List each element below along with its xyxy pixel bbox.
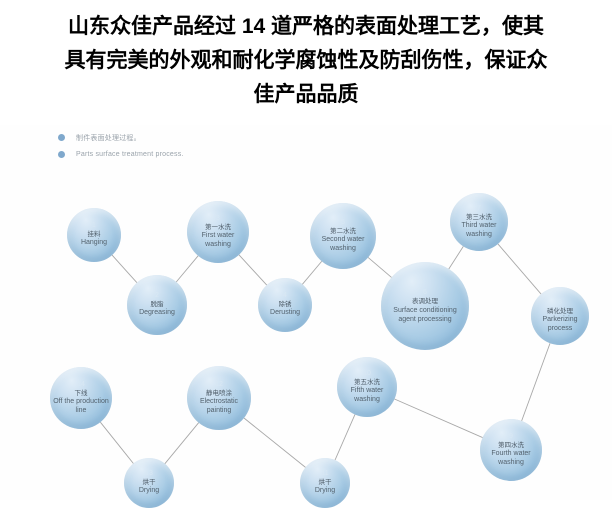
connector-line: [100, 422, 133, 463]
process-node-label-cn: 第一水洗: [205, 224, 231, 232]
process-node-label-cn: 磷化处理: [547, 308, 573, 316]
connector-line: [302, 261, 321, 284]
process-node-number: 9: [509, 433, 513, 441]
process-node-10[interactable]: 10第五水洗Fifth water washing: [337, 357, 397, 417]
connector-line: [394, 399, 482, 438]
connector-line: [498, 244, 541, 294]
connector-line: [368, 257, 391, 277]
process-node-12[interactable]: 12静电喷涂Electrostatic painting: [187, 366, 251, 430]
process-node-label-cn: 第三水洗: [466, 214, 492, 222]
legend: 制件表面处理过程。 Parts surface treatment proces…: [58, 129, 184, 163]
process-node-label-en: Second water washing: [310, 236, 376, 253]
process-node-label-cn: 烘干: [143, 479, 156, 487]
connector-line: [112, 255, 137, 283]
process-node-label-cn: 下线: [75, 390, 88, 398]
process-node-number: 13: [145, 470, 153, 478]
process-node-1[interactable]: 1挂料Hanging: [67, 208, 121, 262]
process-node-number: 6: [423, 289, 427, 297]
connector-line: [239, 255, 267, 285]
process-node-number: 7: [477, 205, 481, 213]
process-node-label-en: Fifth water washing: [337, 387, 397, 404]
process-node-8[interactable]: 8磷化处理Parkerizing process: [531, 287, 589, 345]
connector-line: [176, 256, 198, 282]
process-node-label-en: Parkerizing process: [531, 316, 589, 333]
process-node-label-en: Hanging: [78, 239, 110, 248]
process-node-label-en: Third water washing: [450, 222, 508, 239]
connector-line: [522, 343, 550, 421]
process-node-label-en: Degreasing: [136, 309, 178, 318]
process-node-label-cn: 挂料: [88, 231, 101, 239]
legend-item-en: Parts surface treatment process.: [58, 146, 184, 163]
process-node-label-cn: 第二水洗: [330, 228, 356, 236]
process-node-label-cn: 脱脂: [151, 301, 164, 309]
process-node-number: 2: [155, 292, 159, 300]
process-node-label-en: Derusting: [267, 309, 303, 318]
page-title-line-3: 佳产品品质: [21, 78, 591, 112]
process-node-label-cn: 静电喷涂: [206, 390, 232, 398]
process-node-number: 4: [283, 292, 287, 300]
process-node-number: 5: [341, 219, 345, 227]
process-flow-diagram: 制件表面处理过程。 Parts surface treatment proces…: [0, 125, 612, 500]
process-node-11[interactable]: 11烘干Drying: [300, 458, 350, 508]
legend-label-cn: 制件表面处理过程。: [76, 133, 141, 143]
connector-line: [244, 418, 306, 467]
legend-bullet-icon: [58, 151, 65, 158]
process-node-13[interactable]: 13烘干Drying: [124, 458, 174, 508]
process-node-number: 12: [215, 381, 223, 389]
process-node-number: 8: [558, 299, 562, 307]
legend-label-en: Parts surface treatment process.: [76, 151, 184, 158]
connector-line: [335, 414, 355, 460]
process-node-14[interactable]: 14下线Off the production line: [50, 367, 112, 429]
page-title-line-1: 山东众佳产品经过 14 道严格的表面处理工艺，使其: [21, 10, 591, 44]
process-node-5[interactable]: 5第二水洗Second water washing: [310, 203, 376, 269]
process-node-label-en: Fourth water washing: [480, 450, 542, 467]
page-title-line-2: 具有完美的外观和耐化学腐蚀性及防刮伤性，保证众: [21, 44, 591, 78]
process-node-9[interactable]: 9第四水洗Fourth water washing: [480, 419, 542, 481]
process-node-label-cn: 除锈: [279, 301, 292, 309]
process-node-label-en: Drying: [136, 487, 162, 496]
process-node-number: 10: [363, 370, 371, 378]
process-node-label-en: Surface conditioning agent processing: [381, 306, 469, 324]
process-node-label-cn: 表调处理: [412, 298, 438, 306]
process-node-label-en: Drying: [312, 487, 338, 496]
process-node-number: 14: [77, 381, 85, 389]
process-node-label-en: Off the production line: [50, 398, 112, 415]
connector-line: [165, 423, 199, 464]
process-node-4[interactable]: 4除锈Derusting: [258, 278, 312, 332]
process-node-label-en: First water washing: [187, 232, 249, 249]
process-node-6[interactable]: 6表调处理Surface conditioning agent processi…: [381, 262, 469, 350]
process-node-label-cn: 第五水洗: [354, 379, 380, 387]
process-node-label-cn: 烘干: [319, 479, 332, 487]
legend-bullet-icon: [58, 134, 65, 141]
process-node-3[interactable]: 3第一水洗First water washing: [187, 201, 249, 263]
connector-line: [449, 246, 464, 269]
process-node-label-cn: 第四水洗: [498, 442, 524, 450]
process-node-number: 11: [321, 470, 328, 478]
process-node-7[interactable]: 7第三水洗Third water washing: [450, 193, 508, 251]
process-node-2[interactable]: 2脱脂Degreasing: [127, 275, 187, 335]
process-node-label-en: Electrostatic painting: [187, 398, 251, 415]
page-title: 山东众佳产品经过 14 道严格的表面处理工艺，使其 具有完美的外观和耐化学腐蚀性…: [21, 0, 591, 112]
legend-item-cn: 制件表面处理过程。: [58, 129, 184, 146]
process-node-number: 1: [92, 222, 96, 230]
process-node-number: 3: [216, 215, 220, 223]
